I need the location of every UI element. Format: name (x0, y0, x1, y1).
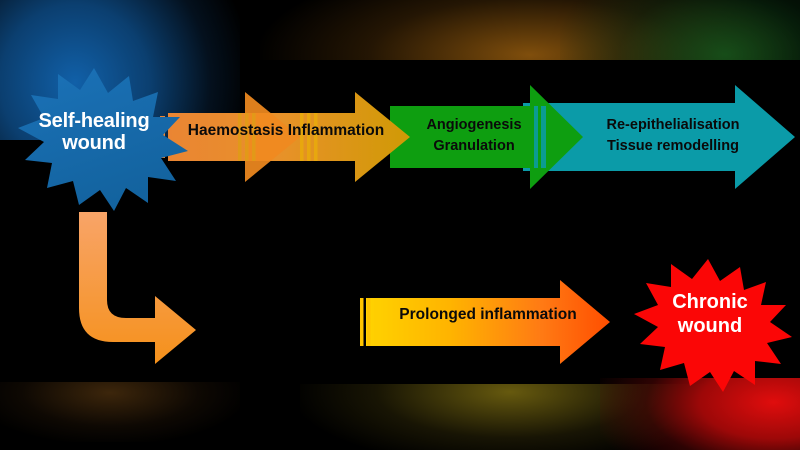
arrow-angiogenesis (390, 85, 583, 189)
node-chronic-wound (634, 259, 792, 392)
arrow-haemostasis (160, 92, 410, 182)
node-self-healing-wound (18, 68, 188, 211)
diagram-shapes (0, 0, 800, 450)
branch-elbow-arrow (79, 212, 196, 364)
arrow-prolonged-inflammation (360, 280, 610, 364)
diagram-canvas: Self-healing wound Haemostasis Inflammat… (0, 0, 800, 450)
